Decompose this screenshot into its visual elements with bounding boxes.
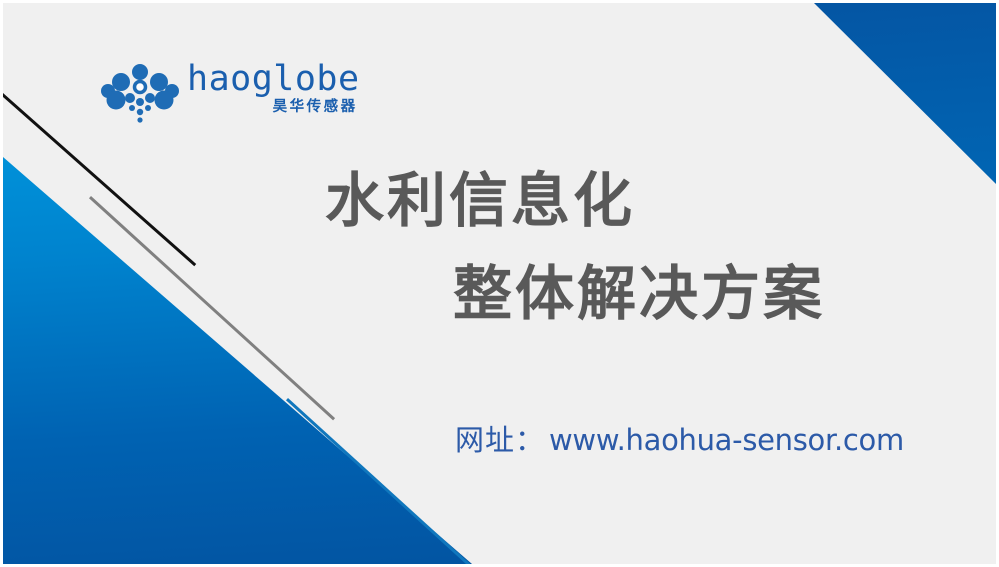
title-slide: haoglobe 昊华传感器 水利信息化 整体解决方案 网址： www.haoh… <box>0 0 999 567</box>
haoglobe-network-dots-icon <box>101 64 179 126</box>
website-line: 网址： www.haohua-sensor.com <box>455 423 904 457</box>
slide-canvas: haoglobe 昊华传感器 水利信息化 整体解决方案 网址： www.haoh… <box>3 3 996 564</box>
logo-text-block: haoglobe 昊华传感器 <box>187 61 360 115</box>
website-label: 网址： <box>455 423 545 457</box>
slide-title-line-1: 水利信息化 <box>325 169 635 233</box>
company-logo: haoglobe 昊华传感器 <box>101 61 360 126</box>
website-url[interactable]: www.haohua-sensor.com <box>549 423 904 457</box>
logo-wordmark: haoglobe <box>187 61 360 97</box>
logo-subtitle: 昊华传感器 <box>273 99 360 115</box>
slide-title-line-2: 整体解决方案 <box>453 262 825 326</box>
